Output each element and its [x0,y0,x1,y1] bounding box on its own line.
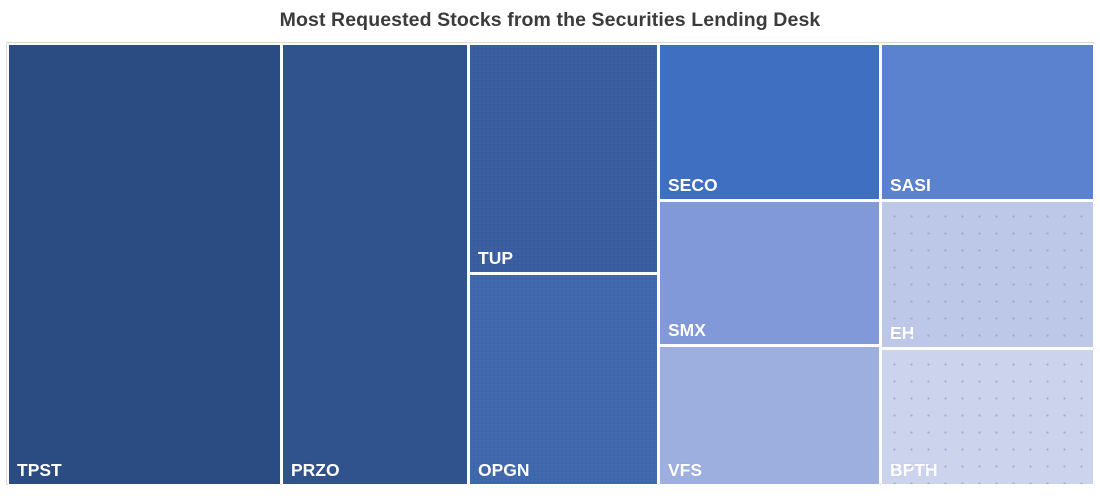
treemap-plot-area: TPSTPRZOTUPOPGNSECOSASISMXEHVFSBPTH [6,42,1094,485]
treemap-tile-przo[interactable]: PRZO [282,44,468,485]
treemap-tile-tpst[interactable]: TPST [8,44,281,485]
treemap-tile-smx[interactable]: SMX [659,201,880,345]
treemap-tile-sasi[interactable]: SASI [881,44,1094,200]
treemap-tile-label: SECO [668,175,718,195]
chart-title: Most Requested Stocks from the Securitie… [0,0,1100,41]
treemap-tile-label: SMX [668,320,706,340]
treemap-tile-label: PRZO [291,460,340,480]
treemap-tile-vfs[interactable]: VFS [659,346,880,485]
treemap-tile-seco[interactable]: SECO [659,44,880,200]
treemap-tile-opgn[interactable]: OPGN [469,274,658,485]
treemap-tile-eh[interactable]: EH [881,201,1094,348]
treemap-chart: Most Requested Stocks from the Securitie… [0,0,1100,496]
treemap-tile-label: TPST [17,460,62,480]
treemap-tile-label: EH [890,323,914,343]
treemap-tile-label: VFS [668,460,702,480]
treemap-tile-tup[interactable]: TUP [469,44,658,273]
treemap-tile-label: SASI [890,175,931,195]
treemap-tile-bpth[interactable]: BPTH [881,349,1094,485]
treemap-tile-label: BPTH [890,460,938,480]
treemap-tile-label: OPGN [478,460,530,480]
treemap-tile-label: TUP [478,248,513,268]
